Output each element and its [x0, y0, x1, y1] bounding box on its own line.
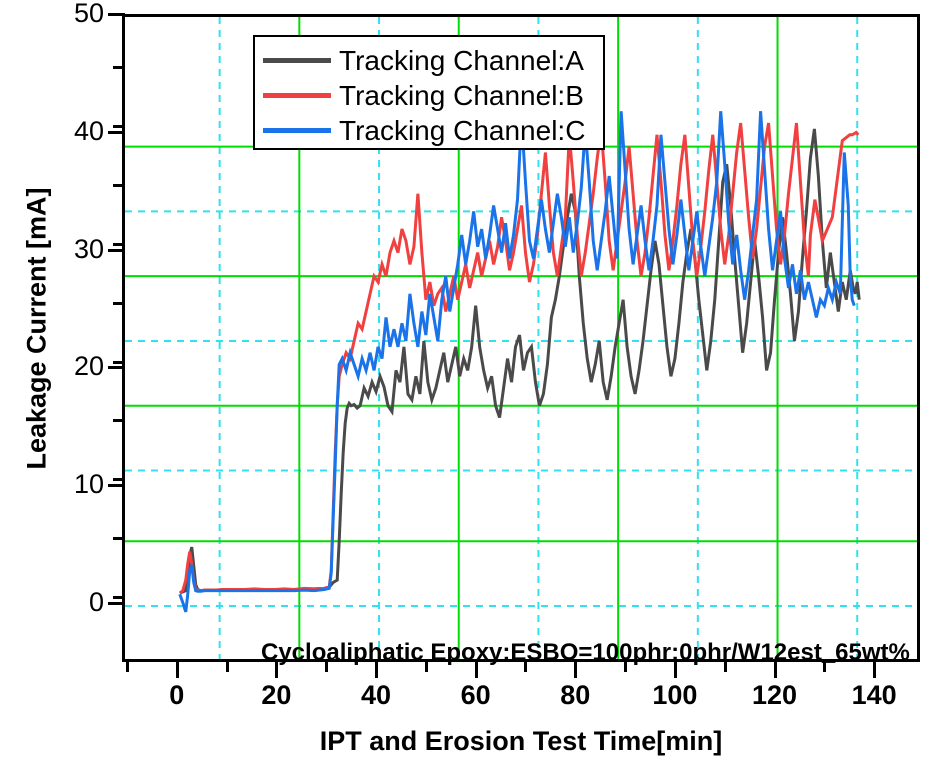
x-tick-minor [226, 662, 229, 672]
y-axis-title: Leakage Current [mA] [22, 129, 53, 529]
legend-item: Tracking Channel:B [263, 78, 595, 113]
x-tick-label: 120 [740, 682, 810, 709]
chart-root: Leakage Current [mA] 01020304050 0204060… [0, 0, 936, 770]
legend-label-b: Tracking Channel:B [339, 82, 584, 110]
plot-area: Tracking Channel:A Tracking Channel:B Tr… [122, 14, 920, 662]
x-tick-label: 80 [540, 682, 610, 709]
legend-item: Tracking Channel:C [263, 113, 595, 148]
y-tick-label: 30 [42, 236, 104, 263]
x-tick-label: 0 [142, 682, 212, 709]
x-axis-title: IPT and Erosion Test Time[min] [122, 726, 920, 757]
legend-swatch-c [263, 128, 331, 133]
series-line [180, 111, 854, 612]
legend-item: Tracking Channel:A [263, 43, 595, 78]
x-tick-minor [126, 662, 129, 672]
legend: Tracking Channel:A Tracking Channel:B Tr… [253, 35, 605, 150]
y-tick-label: 50 [42, 0, 104, 27]
y-tick-label: 10 [42, 471, 104, 498]
x-tick-label: 140 [839, 682, 909, 709]
y-tick-label: 0 [42, 589, 104, 616]
x-tick-label: 60 [441, 682, 511, 709]
plot-annotation: Cycloaliphatic Epoxy:ESBO=100phr:0phr/W1… [261, 639, 910, 667]
x-tick-major [176, 662, 179, 678]
y-tick-label: 20 [42, 353, 104, 380]
legend-label-a: Tracking Channel:A [339, 47, 584, 75]
y-tick-label: 40 [42, 118, 104, 145]
legend-swatch-a [263, 58, 331, 63]
x-tick-label: 40 [341, 682, 411, 709]
legend-label-c: Tracking Channel:C [339, 117, 585, 145]
x-tick-label: 20 [241, 682, 311, 709]
x-tick-label: 100 [640, 682, 710, 709]
legend-swatch-b [263, 93, 331, 98]
